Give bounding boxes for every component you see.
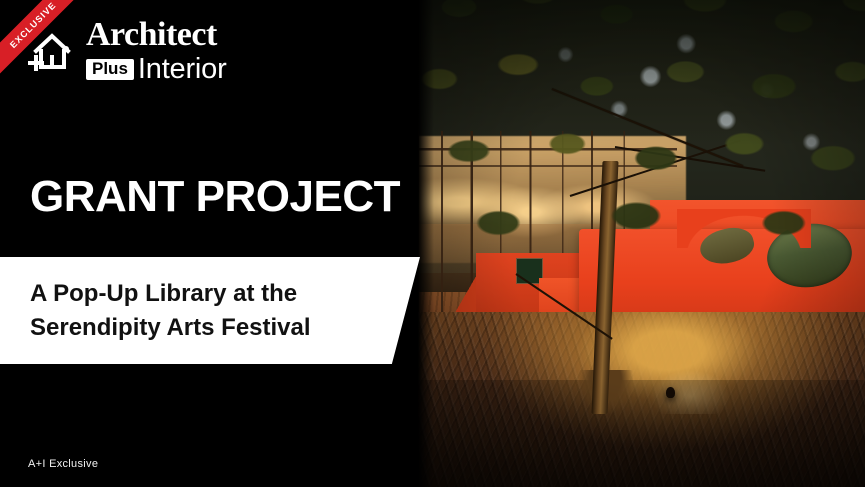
brand-subline: Plus Interior [86, 55, 227, 84]
brand-name-plus: Plus [86, 59, 134, 80]
brand-wordmark: Architect Plus Interior [86, 18, 227, 84]
promo-card: EXCLUSIVE Architect Plus Interior [0, 0, 865, 487]
ground-uplight-fixture [666, 387, 675, 398]
subtitle-text: A Pop-Up Library at the Serendipity Arts… [0, 277, 360, 343]
brand-name-interior: Interior [138, 55, 227, 84]
project-photo [418, 0, 865, 487]
canopy-top-shadow [418, 0, 865, 146]
subtitle-panel: A Pop-Up Library at the Serendipity Arts… [0, 257, 420, 364]
page-title: GRANT PROJECT [30, 172, 400, 222]
brand-logo: Architect Plus Interior [26, 18, 227, 84]
ground-shadow [418, 380, 865, 487]
footer-caption: A+I Exclusive [28, 458, 98, 470]
editorial-panel: EXCLUSIVE Architect Plus Interior [0, 0, 430, 487]
brand-name-architect: Architect [86, 18, 227, 52]
